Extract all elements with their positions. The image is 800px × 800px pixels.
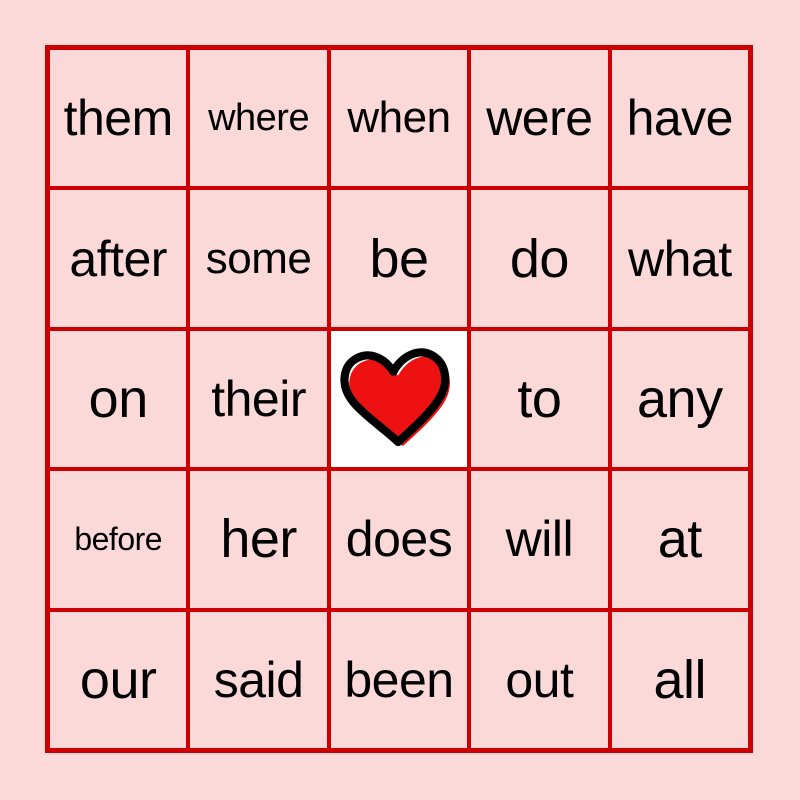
bingo-cell-do[interactable]: do (471, 190, 607, 326)
bingo-cell-will[interactable]: will (471, 471, 607, 607)
bingo-cell-all[interactable]: all (612, 612, 748, 748)
bingo-cell-label: before (74, 523, 162, 555)
bingo-cell-does[interactable]: does (331, 471, 467, 607)
bingo-cell-label: will (506, 514, 573, 564)
bingo-cell-label: to (517, 372, 561, 426)
bingo-cell-were[interactable]: were (471, 50, 607, 186)
bingo-cell-label: when (347, 96, 450, 140)
bingo-cell-to[interactable]: to (471, 331, 607, 467)
bingo-cell-have[interactable]: have (612, 50, 748, 186)
bingo-cell-label: on (89, 372, 148, 426)
bingo-cell-be[interactable]: be (331, 190, 467, 326)
bingo-cell-label: their (211, 374, 306, 424)
bingo-cell-when[interactable]: when (331, 50, 467, 186)
bingo-free-space-cell[interactable] (331, 331, 467, 467)
bingo-cell-before[interactable]: before (50, 471, 186, 607)
bingo-cell-on[interactable]: on (50, 331, 186, 467)
bingo-cell-label: them (64, 93, 173, 143)
bingo-cell-label: said (214, 655, 304, 705)
bingo-cell-label: have (627, 93, 733, 143)
bingo-cell-our[interactable]: our (50, 612, 186, 748)
bingo-cell-some[interactable]: some (190, 190, 326, 326)
bingo-cell-label: our (80, 653, 157, 707)
bingo-cell-label: at (658, 512, 702, 566)
bingo-cell-label: after (69, 234, 167, 284)
bingo-cell-label: some (206, 237, 312, 281)
bingo-cell-label: where (208, 99, 309, 137)
bingo-cell-label: all (654, 653, 707, 707)
bingo-cell-out[interactable]: out (471, 612, 607, 748)
bingo-cell-label: her (220, 512, 297, 566)
bingo-cell-label: were (486, 93, 592, 143)
bingo-cell-label: do (510, 232, 569, 286)
bingo-cell-what[interactable]: what (612, 190, 748, 326)
bingo-cell-label: any (637, 372, 723, 426)
bingo-cell-label: does (346, 514, 452, 564)
bingo-card-grid: themwherewhenwerehaveaftersomebedowhaton… (45, 45, 753, 753)
bingo-cell-them[interactable]: them (50, 50, 186, 186)
bingo-cell-label: what (628, 234, 732, 284)
bingo-cell-after[interactable]: after (50, 190, 186, 326)
bingo-cell-their[interactable]: their (190, 331, 326, 467)
bingo-cell-her[interactable]: her (190, 471, 326, 607)
bingo-cell-label: out (505, 655, 573, 705)
bingo-cell-where[interactable]: where (190, 50, 326, 186)
bingo-cell-any[interactable]: any (612, 331, 748, 467)
heart-icon (331, 331, 467, 467)
bingo-cell-label: be (369, 232, 428, 286)
bingo-cell-at[interactable]: at (612, 471, 748, 607)
bingo-cell-been[interactable]: been (331, 612, 467, 748)
bingo-cell-said[interactable]: said (190, 612, 326, 748)
bingo-cell-label: been (344, 655, 453, 705)
